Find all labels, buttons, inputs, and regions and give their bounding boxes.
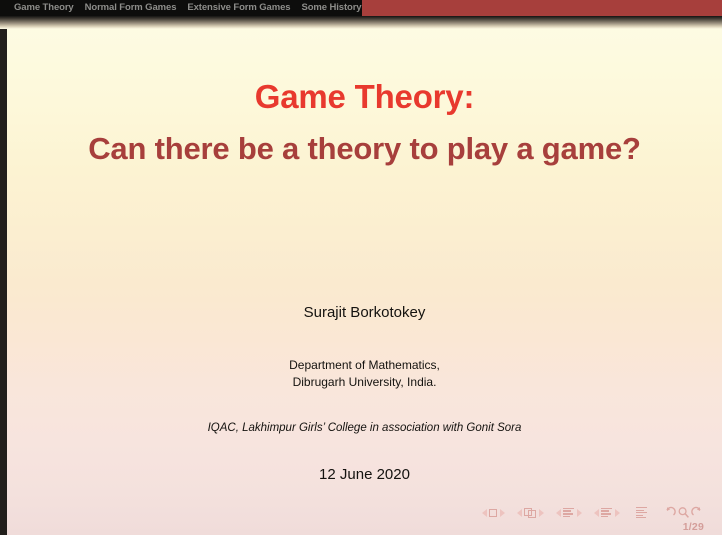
section-navigation-group — [591, 508, 622, 518]
navbar-item-game-theory[interactable]: Game Theory — [14, 0, 74, 16]
navbar-item-list: Game Theory Normal Form Games Extensive … — [0, 0, 373, 16]
back-find-forward-group — [663, 506, 704, 519]
author-name: Surajit Borkotokey — [7, 304, 722, 321]
event-line: IQAC, Lakhimpur Girls’ College in associ… — [7, 422, 722, 434]
navbar-item-extensive-form-games[interactable]: Extensive Form Games — [187, 0, 290, 16]
left-edge-border — [0, 16, 7, 535]
slide-navigation-group — [479, 509, 507, 517]
header-shadow-gradient — [0, 16, 722, 29]
document-lines-icon[interactable] — [636, 507, 647, 518]
prev-slide-triangle-icon[interactable] — [482, 509, 487, 517]
frame-stack-icon[interactable] — [524, 508, 536, 518]
navbar-accent-block — [362, 0, 722, 16]
next-subsection-triangle-icon[interactable] — [577, 509, 582, 517]
beamer-navigation-symbols — [479, 506, 704, 519]
institute-block: Department of Mathematics, Dibrugarh Uni… — [7, 357, 722, 392]
title-block: Game Theory: Can there be a theory to pl… — [7, 78, 722, 168]
next-frame-triangle-icon[interactable] — [539, 509, 544, 517]
forward-arrow-icon[interactable] — [691, 506, 704, 519]
prev-frame-triangle-icon[interactable] — [517, 509, 522, 517]
slide-title: Game Theory: — [7, 78, 722, 116]
section-lines-icon[interactable] — [601, 508, 612, 518]
prev-section-triangle-icon[interactable] — [594, 509, 599, 517]
frame-navigation-group — [514, 508, 546, 518]
slide-subtitle: Can there be a theory to play a game? — [7, 130, 722, 168]
next-section-triangle-icon[interactable] — [615, 509, 620, 517]
presentation-slide: Game Theory Normal Form Games Extensive … — [0, 0, 722, 535]
next-slide-triangle-icon[interactable] — [500, 509, 505, 517]
prev-subsection-triangle-icon[interactable] — [556, 509, 561, 517]
institute-line-1: Department of Mathematics, — [7, 357, 722, 374]
search-magnifier-icon[interactable] — [677, 506, 690, 519]
back-arrow-icon[interactable] — [663, 506, 676, 519]
navbar-item-some-history[interactable]: Some History — [301, 0, 361, 16]
subsection-lines-icon[interactable] — [563, 508, 574, 518]
subsection-navigation-group — [553, 508, 584, 518]
institute-line-2: Dibrugarh University, India. — [7, 374, 722, 391]
slide-square-icon[interactable] — [489, 509, 497, 517]
slide-content: Game Theory: Can there be a theory to pl… — [7, 16, 722, 535]
page-indicator: 1/29 — [683, 521, 704, 533]
slide-date: 12 June 2020 — [7, 466, 722, 483]
navbar-item-normal-form-games[interactable]: Normal Form Games — [85, 0, 177, 16]
